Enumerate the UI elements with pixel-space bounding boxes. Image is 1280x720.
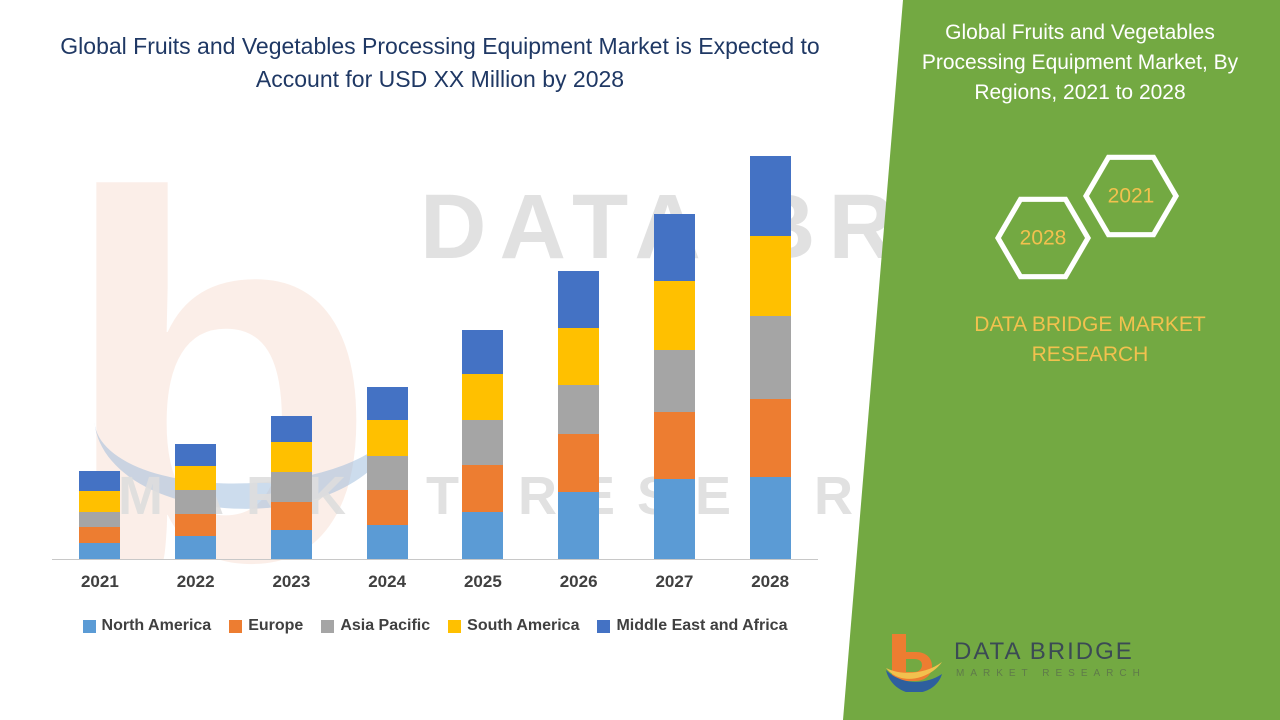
chart-axis-line [52, 559, 818, 560]
bar-segment [367, 525, 408, 559]
bar-segment [558, 492, 599, 559]
bar-segment [79, 527, 120, 543]
bar-segment [175, 444, 216, 467]
bar-segment [558, 271, 599, 328]
bar-segment [271, 502, 312, 530]
x-axis-label: 2022 [166, 572, 226, 592]
bar-segment [462, 512, 503, 559]
bar-2027 [654, 214, 695, 559]
hexagon-2028: 2028 [995, 190, 1091, 286]
hexagon-group: 2028 2021 [985, 148, 1185, 278]
data-bridge-b-logo-icon [880, 630, 948, 692]
bar-2025 [462, 330, 503, 559]
panel-title: Global Fruits and Vegetables Processing … [905, 18, 1255, 109]
bar-segment [750, 316, 791, 399]
legend-label: North America [102, 617, 212, 635]
bar-segment [271, 416, 312, 442]
legend-label: South America [467, 617, 579, 635]
x-axis-labels: 20212022202320242025202620272028 [52, 572, 818, 592]
bar-2023 [271, 416, 312, 559]
bar-2026 [558, 271, 599, 559]
bar-segment [462, 374, 503, 420]
bar-segment [367, 490, 408, 524]
bar-segment [750, 156, 791, 236]
chart-legend: North AmericaEuropeAsia PacificSouth Ame… [52, 617, 818, 635]
bar-segment [367, 387, 408, 420]
x-axis-label: 2023 [261, 572, 321, 592]
bar-segment [79, 512, 120, 527]
x-axis-label: 2025 [453, 572, 513, 592]
bar-segment [558, 385, 599, 435]
stacked-bar-chart [52, 150, 818, 559]
legend-label: Middle East and Africa [616, 617, 787, 635]
bar-segment [750, 236, 791, 316]
bar-segment [271, 530, 312, 559]
bar-segment [367, 456, 408, 490]
bar-2022 [175, 444, 216, 559]
panel-brand-text: DATA BRIDGE MARKET RESEARCH [940, 310, 1240, 370]
legend-item[interactable]: North America [83, 617, 212, 635]
bar-segment [654, 350, 695, 411]
bar-segment [175, 514, 216, 537]
x-axis-label: 2028 [740, 572, 800, 592]
bar-2021 [79, 471, 120, 559]
bar-segment [750, 477, 791, 559]
x-axis-label: 2027 [644, 572, 704, 592]
bar-segment [654, 214, 695, 282]
bar-segment [175, 490, 216, 514]
legend-swatch-icon [321, 620, 334, 633]
data-bridge-logo: DATA BRIDGE MARKET RESEARCH [880, 630, 1110, 700]
bar-segment [271, 442, 312, 472]
infographic-slide: b DATA BRIDGE MARKET RESEARCH Global Fru… [0, 0, 1280, 720]
bar-segment [175, 536, 216, 559]
legend-swatch-icon [229, 620, 242, 633]
hexagon-2021-label: 2021 [1108, 184, 1155, 208]
page-title: Global Fruits and Vegetables Processing … [40, 30, 840, 95]
hexagon-2028-label: 2028 [1020, 226, 1067, 250]
bar-segment [654, 281, 695, 350]
bar-segment [79, 491, 120, 511]
hexagon-2021: 2021 [1083, 148, 1179, 244]
legend-swatch-icon [83, 620, 96, 633]
bar-segment [79, 543, 120, 559]
bar-segment [558, 434, 599, 492]
bar-segment [367, 420, 408, 456]
bar-2024 [367, 387, 408, 559]
bar-segment [750, 399, 791, 478]
logo-tagline: MARKET RESEARCH [956, 668, 1146, 679]
legend-item[interactable]: South America [448, 617, 579, 635]
bar-segment [175, 466, 216, 490]
logo-name: DATA BRIDGE [954, 638, 1134, 666]
legend-item[interactable]: Asia Pacific [321, 617, 430, 635]
bar-segment [558, 328, 599, 385]
bar-segment [462, 420, 503, 465]
bar-segment [654, 479, 695, 559]
legend-item[interactable]: Europe [229, 617, 303, 635]
legend-label: Europe [248, 617, 303, 635]
bar-segment [271, 472, 312, 502]
legend-swatch-icon [597, 620, 610, 633]
x-axis-label: 2026 [549, 572, 609, 592]
bar-segment [79, 471, 120, 491]
x-axis-label: 2021 [70, 572, 130, 592]
legend-swatch-icon [448, 620, 461, 633]
bar-segment [654, 412, 695, 480]
bar-segment [462, 465, 503, 511]
bar-2028 [750, 156, 791, 559]
x-axis-label: 2024 [357, 572, 417, 592]
bar-segment [462, 330, 503, 374]
legend-label: Asia Pacific [340, 617, 430, 635]
legend-item[interactable]: Middle East and Africa [597, 617, 787, 635]
